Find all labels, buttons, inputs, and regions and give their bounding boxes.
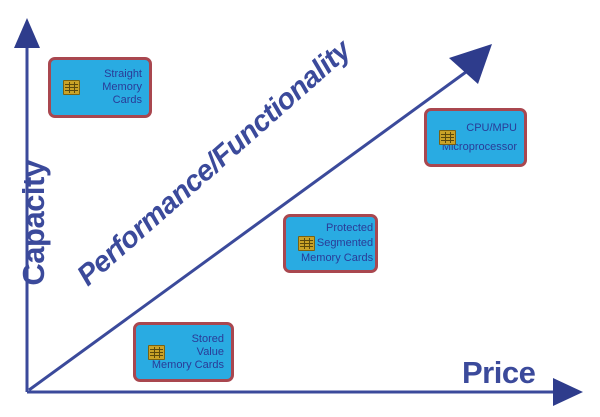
- card-label-line1: Straight: [80, 68, 142, 81]
- smartcard-chip-icon: [439, 130, 456, 145]
- card-straight-memory-cards[interactable]: Straight Memory Cards: [48, 57, 152, 118]
- card-label-line2: Memory: [80, 81, 142, 94]
- card-protected-segmented-memory-cards[interactable]: Protected Segmented Memory Cards: [283, 214, 378, 273]
- card-label-line3: Cards: [66, 94, 142, 107]
- card-label: Stored Value Memory Cards: [165, 333, 227, 372]
- card-label-line3: Memory Cards: [301, 251, 373, 266]
- card-label-line2: Value: [165, 346, 224, 359]
- card-stored-value-memory-cards[interactable]: Stored Value Memory Cards: [133, 322, 234, 382]
- card-label: CPU/MPU Microprocessor: [456, 119, 520, 157]
- x-axis-label: Price: [462, 355, 535, 391]
- diagram-canvas: Capacity Price Performance/Functionality…: [0, 0, 600, 417]
- card-label: Protected Segmented Memory Cards: [315, 221, 376, 266]
- card-label-line1: CPU/MPU: [456, 119, 517, 138]
- card-label-line1: Protected: [315, 221, 373, 236]
- card-label-line2: Segmented: [315, 236, 373, 251]
- y-axis-label: Capacity: [16, 153, 52, 293]
- smartcard-chip-icon: [148, 345, 165, 360]
- smartcard-chip-icon: [298, 236, 315, 251]
- card-cpu-mpu-microprocessor[interactable]: CPU/MPU Microprocessor: [424, 108, 527, 167]
- card-label-line1: Stored: [165, 333, 224, 346]
- card-label: Straight Memory Cards: [80, 68, 145, 107]
- smartcard-chip-icon: [63, 80, 80, 95]
- card-label-line3: Memory Cards: [151, 359, 224, 372]
